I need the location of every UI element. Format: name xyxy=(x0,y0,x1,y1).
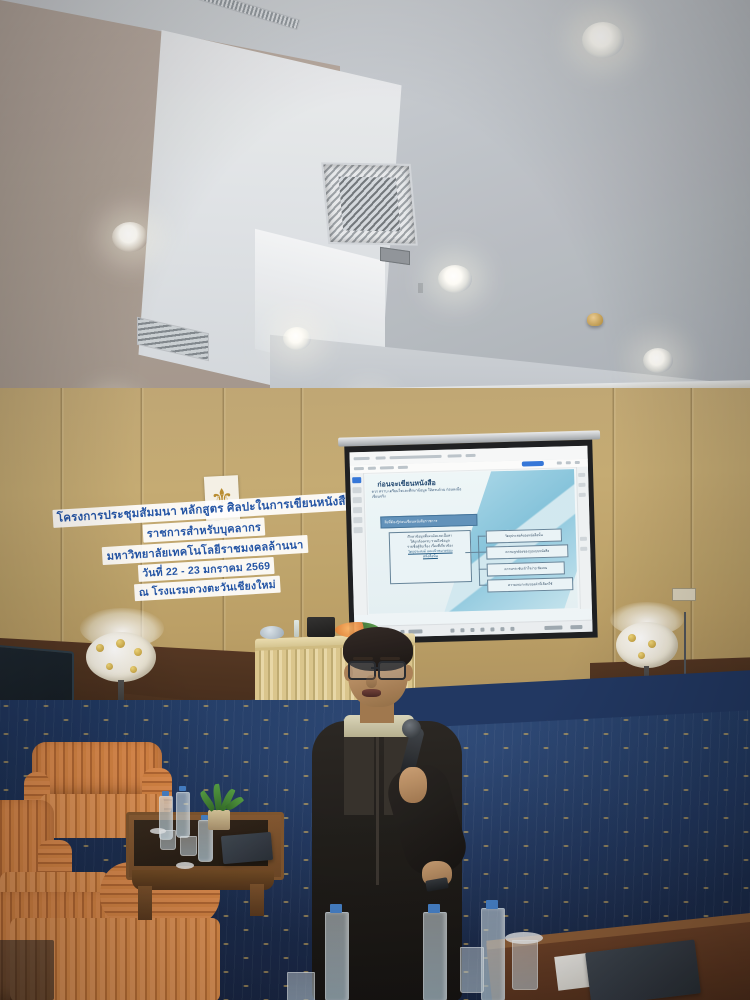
screen-border: ก่อนจะเขียนหนังสือ ควร ทราบ เตรียมใจและศ… xyxy=(344,440,597,645)
slide-thumbnail[interactable] xyxy=(352,487,361,493)
eyeglasses-bridge xyxy=(371,667,380,669)
potted-plant xyxy=(200,782,240,814)
water-bottle[interactable] xyxy=(423,912,447,1000)
projection-screen: ก่อนจะเขียนหนังสือ ควร ทราบ เตรียมใจและศ… xyxy=(344,440,597,645)
flow-left-line: หนังสือนั้น xyxy=(392,553,468,560)
presenter-zipper xyxy=(376,735,379,885)
flowchart-header-box: สิ่งที่ต้องรู้ก่อนเขียนหนังสือราชการ xyxy=(380,514,477,529)
flowchart-header-label: สิ่งที่ต้องรู้ก่อนเขียนหนังสือราชการ xyxy=(384,518,437,525)
present-button[interactable] xyxy=(522,461,544,467)
wall-outlet-icon xyxy=(672,588,696,601)
bottle-cap xyxy=(162,791,169,796)
drinking-glass[interactable] xyxy=(180,836,197,856)
flow-right-label: ความกระชับเข้าใจง่าย ชัดเจน xyxy=(504,566,547,572)
conference-room-photo: ⚜ โครงการประชุมสัมมนา หลักสูตร ศิลปะในกา… xyxy=(0,0,750,1000)
flow-right-label: ความเหมาะสมของคำที่เลือกใช้ xyxy=(508,582,553,588)
presenter-lapel-left xyxy=(344,725,374,815)
water-bottle[interactable] xyxy=(176,792,190,838)
ceiling-downlight xyxy=(283,327,311,350)
linear-air-grille-icon xyxy=(157,0,301,30)
ceiling-downlight xyxy=(643,348,673,373)
flow-right-label: วัตถุประสงค์ของหนังสือนั้น xyxy=(505,533,543,539)
tablet-case-on-coffee-table[interactable] xyxy=(221,832,273,864)
slide-canvas[interactable]: ก่อนจะเขียนหนังสือ ควร ทราบ เตรียมใจและศ… xyxy=(365,469,578,614)
bottle-cap xyxy=(486,900,498,909)
flowchart-right-box: ความกระชับเข้าใจง่าย ชัดเจน xyxy=(487,561,565,576)
cap-on-table xyxy=(260,626,284,639)
microphone-icon xyxy=(402,719,421,738)
presenter-hand-holding-mic xyxy=(399,767,427,803)
equipment-case xyxy=(0,940,54,1000)
ceiling-downlight xyxy=(438,265,472,293)
event-banner: โครงการประชุมสัมมนา หลักสูตร ศิลปะในการเ… xyxy=(52,491,357,607)
water-bottle-on-table xyxy=(294,620,299,637)
bottle-cap xyxy=(428,904,440,913)
sprinkler-head-icon xyxy=(587,313,603,326)
drinking-glass[interactable] xyxy=(287,972,315,1000)
square-air-diffuser-icon xyxy=(321,162,418,245)
coaster xyxy=(150,828,166,834)
flowchart-right-box: ความเหมาะสมของคำที่เลือกใช้ xyxy=(487,577,573,592)
bottle-cap xyxy=(201,815,208,820)
water-bottle[interactable] xyxy=(325,912,349,1000)
flowchart-right-box: ความถูกต้องของรูปแบบหนังสือ xyxy=(486,544,568,559)
presenter-nose xyxy=(366,675,377,688)
projected-image: ก่อนจะเขียนหนังสือ ควร ทราบ เตรียมใจและศ… xyxy=(349,446,592,639)
slide-thumbnail[interactable] xyxy=(353,517,362,523)
coaster xyxy=(176,862,194,869)
slide-thumbnail[interactable] xyxy=(354,527,363,533)
ceiling-downlight xyxy=(582,22,624,58)
presenter-brow-left xyxy=(353,657,373,660)
eyeglasses-icon xyxy=(378,661,406,680)
slide-thumbnail[interactable] xyxy=(352,477,361,483)
coaster xyxy=(505,932,543,944)
ceiling-downlight xyxy=(112,222,148,252)
water-bottle[interactable] xyxy=(481,908,505,1000)
slide-thumbnail[interactable] xyxy=(353,507,362,513)
right-panel[interactable] xyxy=(576,467,592,609)
bottle-cap xyxy=(330,904,342,913)
drinking-glass[interactable] xyxy=(460,947,484,993)
ceiling-hook-icon xyxy=(418,283,423,293)
slide-thumbnail[interactable] xyxy=(353,497,362,503)
presenter-brow-right xyxy=(380,657,400,660)
slide-subtitle: ควร ทราบ เตรียมใจและศึกษาข้อมูล ให้ครบถ้… xyxy=(372,487,468,500)
flowchart-left-box: ศึกษาข้อมูลที่จะแจ้งและเนื้อหา ให้ถูกต้อ… xyxy=(389,530,472,584)
bottle-cap xyxy=(179,786,186,791)
presenter-mouth xyxy=(362,689,381,697)
drinking-glass[interactable] xyxy=(512,940,538,990)
flow-right-label: ความถูกต้องของรูปแบบหนังสือ xyxy=(505,549,549,555)
flowchart-right-box: วัตถุประสงค์ของหนังสือนั้น xyxy=(486,528,562,543)
ceiling xyxy=(0,0,750,430)
